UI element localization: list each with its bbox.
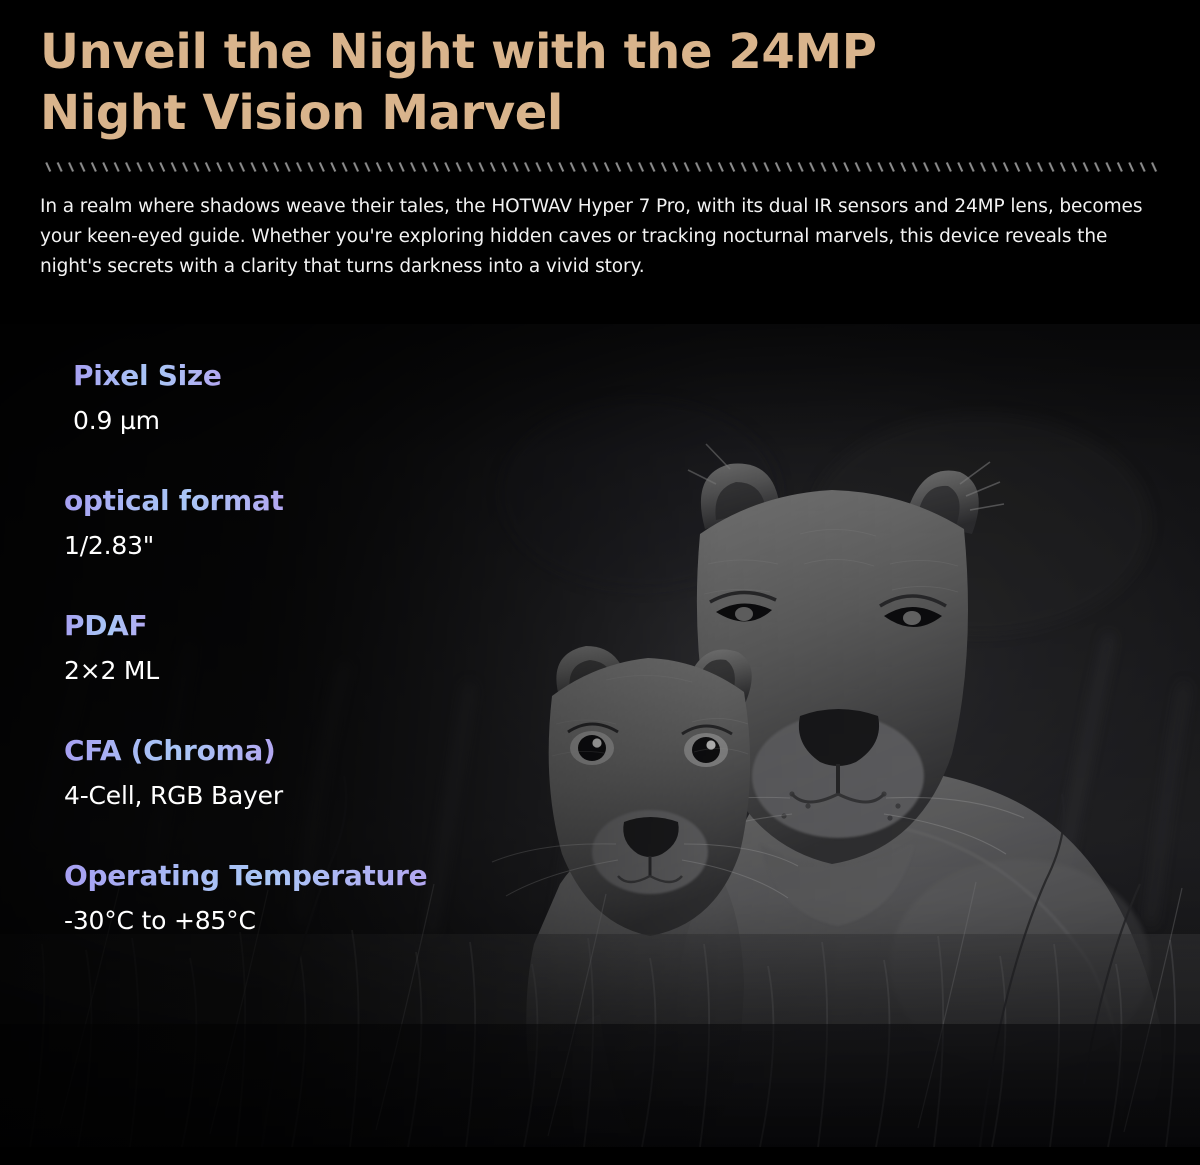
spec-value: 4-Cell, RGB Bayer (64, 780, 640, 812)
spec-label: Pixel Size (73, 358, 222, 394)
spec-label: CFA (Chroma) (64, 733, 275, 769)
spec-item-pdaf: PDAF 2×2 ML (64, 608, 640, 687)
spec-value: 2×2 ML (64, 655, 640, 687)
spec-value: 0.9 µm (73, 405, 640, 437)
spec-list: Pixel Size 0.9 µm optical format 1/2.83"… (0, 324, 640, 937)
page-title: Unveil the Night with the 24MP Night Vis… (40, 22, 1000, 144)
product-spec-page: Unveil the Night with the 24MP Night Vis… (0, 0, 1200, 1165)
spec-value: -30°C to +85°C (64, 905, 640, 937)
spec-label: optical format (64, 483, 284, 519)
hatch-divider-icon (44, 161, 1162, 175)
spec-item-optical-format: optical format 1/2.83" (64, 483, 640, 562)
spec-label: PDAF (64, 608, 147, 644)
header-section: Unveil the Night with the 24MP Night Vis… (0, 0, 1200, 324)
photo-section: Pixel Size 0.9 µm optical format 1/2.83"… (0, 324, 1200, 1147)
spec-item-pixel-size: Pixel Size 0.9 µm (64, 358, 640, 437)
spec-label: Operating Temperature (64, 858, 427, 894)
footer-strip (0, 1147, 1200, 1165)
hatch-divider (44, 161, 1162, 175)
spec-item-cfa-chroma: CFA (Chroma) 4-Cell, RGB Bayer (64, 733, 640, 812)
spec-item-operating-temperature: Operating Temperature -30°C to +85°C (64, 858, 640, 937)
spec-value: 1/2.83" (64, 530, 640, 562)
intro-paragraph: In a realm where shadows weave their tal… (40, 192, 1160, 282)
